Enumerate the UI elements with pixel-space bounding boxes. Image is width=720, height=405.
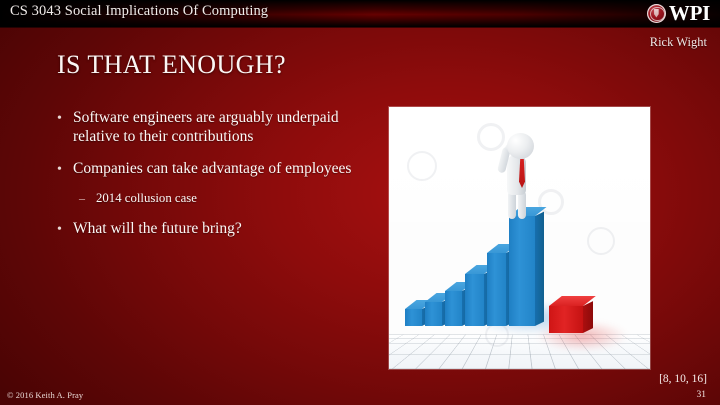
- copyright-notice: © 2016 Keith A. Pray: [7, 390, 83, 400]
- figure-3d: [496, 133, 540, 219]
- chart-bar: [509, 216, 535, 326]
- watermark-swirl-icon: [587, 227, 615, 255]
- list-item: • What will the future bring?: [57, 219, 362, 240]
- wpi-logo: WPI: [647, 1, 710, 25]
- bullet-text: Companies can take advantage of employee…: [73, 159, 351, 180]
- chart-bar: [465, 274, 484, 326]
- list-item: • Companies can take advantage of employ…: [57, 159, 362, 180]
- sub-bullet-text: 2014 collusion case: [96, 189, 197, 207]
- bullet-text: Software engineers are arguably underpai…: [73, 108, 362, 146]
- red-cube: [549, 306, 583, 333]
- watermark-swirl-icon: [538, 189, 564, 215]
- chart-bar: [445, 291, 462, 326]
- bullet-marker: •: [57, 219, 73, 240]
- slide-canvas: CS 3043 Social Implications Of Computing…: [0, 0, 720, 405]
- wpi-logo-text: WPI: [669, 3, 710, 24]
- list-item: • Software engineers are arguably underp…: [57, 108, 362, 146]
- citation-reference: [8, 10, 16]: [659, 373, 707, 385]
- chart-bar: [425, 302, 442, 326]
- sub-list-item: – 2014 collusion case: [79, 189, 362, 207]
- bullet-list: • Software engineers are arguably underp…: [57, 108, 362, 253]
- wpi-seal-icon: [647, 4, 666, 23]
- slide-image: [389, 107, 650, 369]
- figure-leg-left: [508, 191, 516, 219]
- bullet-text: What will the future bring?: [73, 219, 242, 240]
- figure-leg-right: [518, 191, 526, 219]
- presenter-name: Rick Wight: [650, 35, 707, 50]
- course-title: CS 3043 Social Implications Of Computing: [10, 3, 268, 20]
- figure-head: [507, 133, 534, 159]
- page-number: 31: [697, 390, 707, 400]
- page-title: IS THAT ENOUGH?: [57, 50, 286, 80]
- sub-bullet-marker: –: [79, 189, 96, 207]
- chart-bar: [487, 253, 506, 326]
- watermark-swirl-icon: [407, 151, 437, 181]
- watermark-swirl-icon: [485, 323, 509, 347]
- chart-bar: [405, 309, 422, 326]
- top-banner: CS 3043 Social Implications Of Computing…: [0, 0, 720, 27]
- bullet-marker: •: [57, 159, 73, 180]
- bullet-marker: •: [57, 108, 73, 146]
